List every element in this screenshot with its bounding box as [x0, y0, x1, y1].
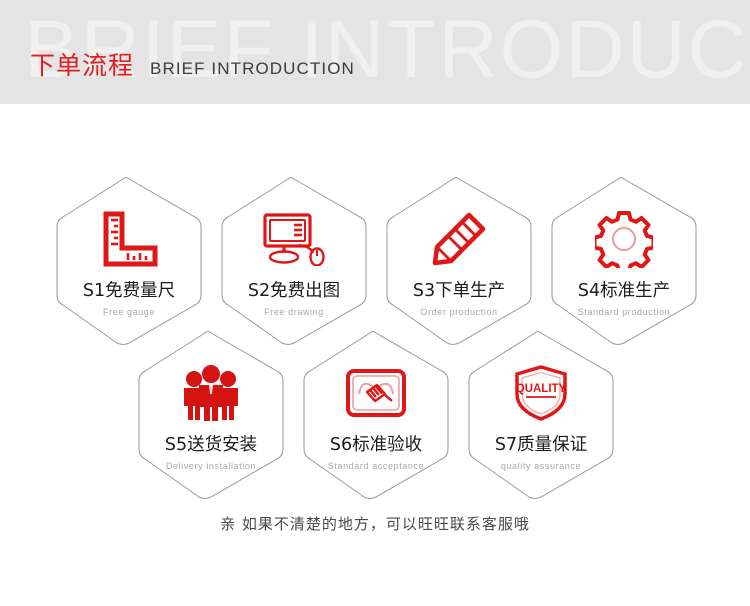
- page-title: 下单流程 BRIEF INTRODUCTION: [30, 46, 355, 82]
- step-label-en: Standard production: [578, 307, 670, 317]
- step-label-en: Free drawing: [264, 307, 324, 317]
- step-label-en: quality assurance: [501, 461, 581, 471]
- step-card-s4[interactable]: S4标准生产 Standard production: [548, 175, 700, 347]
- ruler-icon: [93, 208, 165, 270]
- monitor-mouse-icon: [258, 208, 330, 270]
- step-content-s4: S4标准生产 Standard production: [548, 175, 700, 347]
- handshake-icon: [340, 362, 412, 424]
- pencil-icon: [423, 208, 495, 270]
- gear-icon: [588, 208, 660, 270]
- quality-shield-icon: QUALITY: [505, 362, 577, 424]
- step-card-s3[interactable]: S3下单生产 Order production: [383, 175, 535, 347]
- step-content-s3: S3下单生产 Order production: [383, 175, 535, 347]
- step-card-s7[interactable]: QUALITY S7质量保证 quality assurance: [465, 329, 617, 501]
- step-label-cn: S3下单生产: [413, 277, 505, 302]
- page-title-en: BRIEF INTRODUCTION: [150, 59, 355, 79]
- step-content-s2: S2免费出图 Free drawing: [218, 175, 370, 347]
- step-card-s1[interactable]: S1免费量尺 Free gauge: [53, 175, 205, 347]
- step-label-cn: S7质量保证: [495, 431, 587, 456]
- step-label-en: Delivery installation: [166, 461, 256, 471]
- step-label-en: Order production: [420, 307, 497, 317]
- page-title-cn: 下单流程: [30, 46, 134, 82]
- page-root: BRIEF INTRODUCTIO 下单流程 BRIEF INTRODUCTIO…: [0, 0, 750, 606]
- step-label-cn: S5送货安装: [165, 431, 257, 456]
- step-content-s5: S5送货安装 Delivery installation: [135, 329, 287, 501]
- header-band: BRIEF INTRODUCTIO 下单流程 BRIEF INTRODUCTIO…: [0, 0, 750, 104]
- step-label-cn: S6标准验收: [330, 431, 422, 456]
- step-label-en: Standard acceptance: [328, 461, 424, 471]
- shield-label: QUALITY: [516, 383, 567, 395]
- step-content-s7: QUALITY S7质量保证 quality assurance: [465, 329, 617, 501]
- step-content-s6: S6标准验收 Standard acceptance: [300, 329, 452, 501]
- step-label-cn: S4标准生产: [578, 277, 670, 302]
- step-label-en: Free gauge: [103, 307, 155, 317]
- step-card-s5[interactable]: S5送货安装 Delivery installation: [135, 329, 287, 501]
- step-label-cn: S2免费出图: [248, 277, 340, 302]
- steps-grid: S1免费量尺 Free gauge: [0, 104, 750, 504]
- step-card-s6[interactable]: S6标准验收 Standard acceptance: [300, 329, 452, 501]
- step-content-s1: S1免费量尺 Free gauge: [53, 175, 205, 347]
- step-label-cn: S1免费量尺: [83, 277, 175, 302]
- footer-note: 亲 如果不清楚的地方，可以旺旺联系客服哦: [0, 513, 750, 534]
- people-group-icon: [175, 362, 247, 424]
- step-card-s2[interactable]: S2免费出图 Free drawing: [218, 175, 370, 347]
